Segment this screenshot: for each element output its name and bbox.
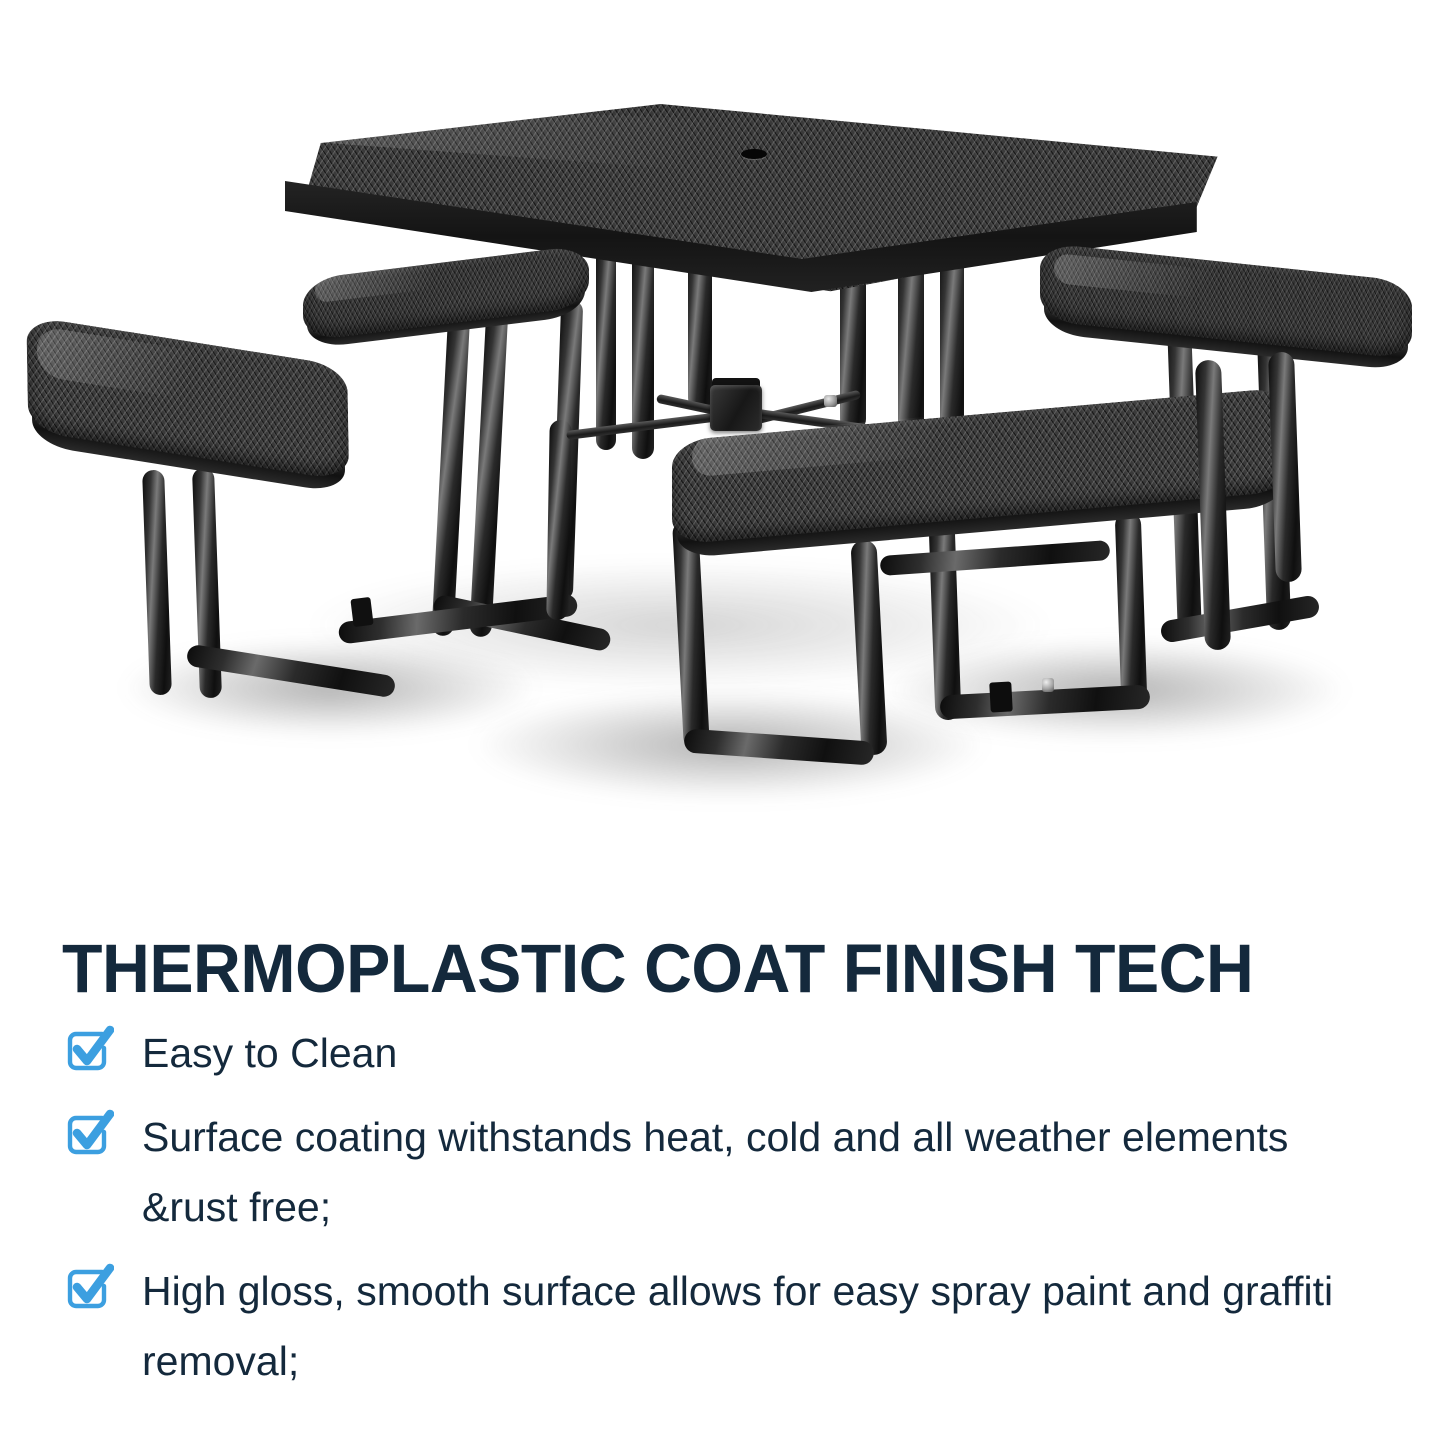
- feature-item: High gloss, smooth surface allows for ea…: [62, 1256, 1402, 1396]
- seat-backright: [1040, 262, 1412, 370]
- seat-left: [27, 338, 349, 490]
- picnic-table-illustration: [0, 0, 1445, 868]
- foot-clamp: [350, 597, 373, 627]
- foot-bolt: [1042, 678, 1054, 692]
- product-photo: [0, 0, 1445, 868]
- seat-backleft: [303, 262, 589, 344]
- hub-bolt: [824, 395, 837, 407]
- foot-clamp: [989, 681, 1013, 712]
- feature-list: Easy to Clean Surface coating withstands…: [62, 1018, 1402, 1410]
- bench-leg: [142, 470, 172, 696]
- feature-text: High gloss, smooth surface allows for ea…: [142, 1256, 1387, 1396]
- page-title: THERMOPLASTIC COAT FINISH TECH: [62, 930, 1339, 1008]
- feature-item: Easy to Clean: [62, 1018, 1402, 1088]
- umbrella-hole: [741, 149, 767, 159]
- feature-item: Surface coating withstands heat, cold an…: [62, 1102, 1402, 1242]
- bench-leg: [546, 420, 571, 620]
- feature-text: Easy to Clean: [142, 1018, 397, 1088]
- feature-text: Surface coating withstands heat, cold an…: [142, 1102, 1387, 1242]
- checkbox-checked-icon: [62, 1022, 114, 1074]
- checkbox-checked-icon: [62, 1106, 114, 1158]
- checkbox-checked-icon: [62, 1260, 114, 1312]
